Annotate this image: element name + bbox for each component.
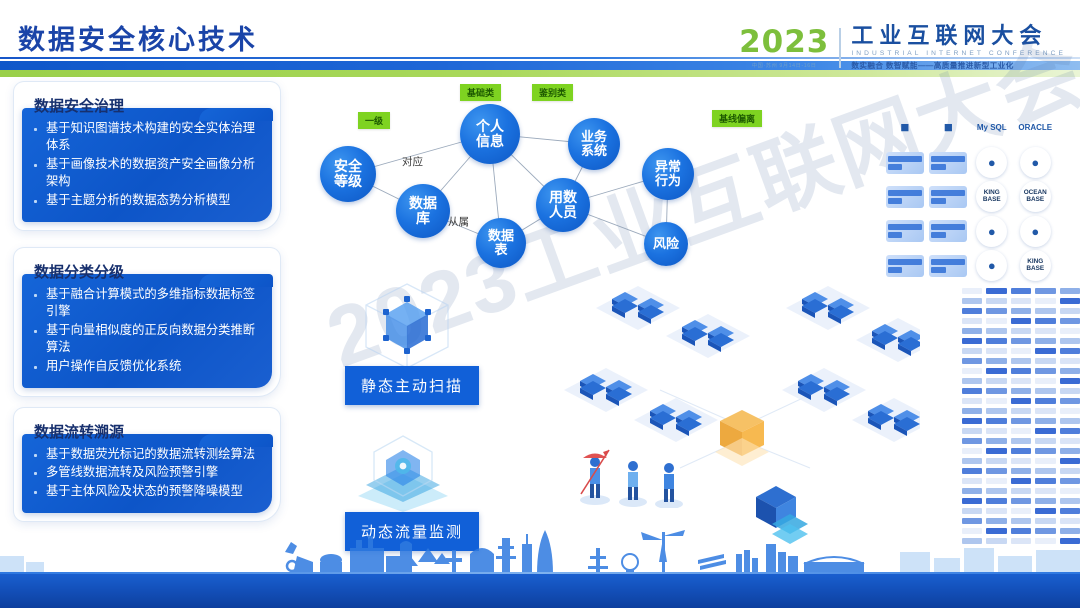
logo-slogan: 数实融合 数智赋能——高质量推进新型工业化 bbox=[851, 60, 1066, 71]
stripe-cell bbox=[1060, 348, 1080, 354]
stripe-cell bbox=[962, 468, 982, 474]
stripe-cell bbox=[1060, 358, 1080, 364]
graph-node-abnormal[interactable]: 异常行为 bbox=[642, 148, 694, 200]
stripe-cell bbox=[962, 358, 982, 364]
stripe-cell bbox=[1035, 468, 1055, 474]
page-title: 数据安全核心技术 bbox=[18, 18, 258, 57]
database-logo-grid: ■■My SQLORACLE●●KINGBASEOCEANBASE●●●KING… bbox=[884, 112, 1056, 282]
db-round-icon: ● bbox=[976, 216, 1007, 247]
stripe-cell bbox=[962, 348, 982, 354]
stripe-cell bbox=[1035, 378, 1055, 384]
db-round-icon: KINGBASE bbox=[976, 181, 1007, 212]
stripe-cell bbox=[1035, 308, 1055, 314]
db-chip-icon bbox=[929, 255, 967, 277]
list-item: 基于向量相似度的正反向数据分类推断算法 bbox=[32, 322, 260, 357]
stripe-cell bbox=[962, 298, 982, 304]
stripe-cell bbox=[1035, 518, 1055, 524]
stripe-cell bbox=[1011, 378, 1031, 384]
stripe-cell bbox=[986, 368, 1006, 374]
graph-edge-correspond: 对应 bbox=[402, 154, 423, 169]
stripe-column bbox=[986, 288, 1006, 550]
graph-node-personal-info[interactable]: 个人信息 bbox=[460, 104, 520, 164]
card-body: 基于知识图谱技术构建的安全实体治理体系 基于画像技术的数据资产安全画像分析架构 … bbox=[22, 108, 272, 222]
stripe-cell bbox=[1011, 488, 1031, 494]
db-round-icon: ● bbox=[976, 250, 1007, 281]
db-round-icon: OCEANBASE bbox=[1020, 181, 1051, 212]
stripe-cell bbox=[986, 438, 1006, 444]
stripe-cell bbox=[1035, 398, 1055, 404]
stripe-cell bbox=[1011, 438, 1031, 444]
db-chip-icon bbox=[886, 255, 924, 277]
stripe-cell bbox=[986, 398, 1006, 404]
stripe-cell bbox=[986, 508, 1006, 514]
graph-node-label: 风险 bbox=[653, 237, 679, 251]
db-logo-mysql: My SQL bbox=[971, 112, 1013, 144]
server-rack bbox=[564, 368, 648, 412]
card-data-security-governance: 数据安全治理 基于知识图谱技术构建的安全实体治理体系 基于画像技术的数据资产安全… bbox=[22, 92, 272, 222]
db-logo-mariadb: ● bbox=[971, 146, 1013, 178]
stripe-cell bbox=[962, 398, 982, 404]
stripe-cell bbox=[1035, 428, 1055, 434]
stripe-cell bbox=[986, 388, 1006, 394]
db-logo-huawei: ● bbox=[971, 215, 1013, 247]
stripe-cell bbox=[1011, 448, 1031, 454]
card-bullet-list: 基于知识图谱技术构建的安全实体治理体系 基于画像技术的数据资产安全画像分析架构 … bbox=[32, 120, 260, 209]
server-rack bbox=[786, 286, 870, 330]
db-round-icon: ● bbox=[976, 147, 1007, 178]
db-text-logo: My SQL bbox=[977, 124, 1007, 132]
stripe-cell bbox=[986, 418, 1006, 424]
stripe-cell bbox=[1060, 318, 1080, 324]
graph-edge-belong: 从属 bbox=[448, 214, 469, 229]
server-rack bbox=[634, 398, 718, 442]
stripe-cell bbox=[1060, 288, 1080, 294]
stripe-cell bbox=[1011, 428, 1031, 434]
stripe-cell bbox=[986, 498, 1006, 504]
cube-scan-icon bbox=[352, 278, 462, 374]
stripe-cell bbox=[986, 348, 1006, 354]
card-body: 基于数据荧光标记的数据流转测绘算法 多管线数据流转及风险预警引擎 基于主体风险及… bbox=[22, 434, 272, 513]
city-skyline-decoration bbox=[0, 526, 1080, 574]
stripe-cell bbox=[1060, 428, 1080, 434]
db-logo-chip-5 bbox=[884, 215, 926, 247]
stripe-cell bbox=[962, 338, 982, 344]
stripe-cell bbox=[1011, 338, 1031, 344]
db-logo-penguin-db: ■ bbox=[928, 112, 970, 144]
db-logo-chip-4 bbox=[928, 181, 970, 213]
stripe-cell bbox=[986, 428, 1006, 434]
graph-node-data-user[interactable]: 用数人员 bbox=[536, 178, 590, 232]
stripe-cell bbox=[986, 378, 1006, 384]
server-rack bbox=[852, 398, 920, 442]
data-stripes-decoration bbox=[962, 288, 1080, 550]
logo-name-cn: 工业互联网大会 bbox=[851, 24, 1066, 47]
db-mark-icon: ■ bbox=[889, 113, 920, 144]
stripe-cell bbox=[1060, 398, 1080, 404]
stripe-cell bbox=[962, 408, 982, 414]
stripe-cell bbox=[986, 448, 1006, 454]
db-chip-icon bbox=[929, 152, 967, 174]
stripe-cell bbox=[1011, 288, 1031, 294]
graph-tag-baseline[interactable]: 基线偏离 bbox=[712, 110, 762, 127]
stripe-cell bbox=[962, 378, 982, 384]
stripe-cell bbox=[962, 518, 982, 524]
stripe-cell bbox=[986, 408, 1006, 414]
card-title: 数据流转溯源 bbox=[22, 418, 134, 445]
stripe-column bbox=[962, 288, 982, 550]
server-rack bbox=[856, 318, 920, 362]
stripe-cell bbox=[1011, 388, 1031, 394]
graph-tag-basic[interactable]: 基础类 bbox=[460, 84, 501, 101]
graph-node-label: 数据库 bbox=[409, 196, 437, 226]
db-chip-icon bbox=[886, 186, 924, 208]
list-item: 基于主体风险及状态的预警降噪模型 bbox=[32, 483, 260, 500]
stripe-cell bbox=[986, 518, 1006, 524]
card-data-flow-tracing: 数据流转溯源 基于数据荧光标记的数据流转测绘算法 多管线数据流转及风险预警引擎 … bbox=[22, 418, 272, 513]
db-logo-chip-1 bbox=[884, 146, 926, 178]
stripe-cell bbox=[986, 328, 1006, 334]
conference-logo: 2023 中国·苏州 9月14日-16日 工业互联网大会 INDUSTRIAL … bbox=[739, 24, 1066, 71]
stripe-cell bbox=[1011, 498, 1031, 504]
stripe-cell bbox=[1035, 338, 1055, 344]
card-data-classification: 数据分类分级 基于融合计算模式的多维指标数据标签引擎 基于向量相似度的正反向数据… bbox=[22, 258, 272, 388]
stripe-cell bbox=[1011, 458, 1031, 464]
stripe-cell bbox=[1035, 388, 1055, 394]
stripe-cell bbox=[1060, 458, 1080, 464]
stripe-cell bbox=[986, 478, 1006, 484]
stripe-cell bbox=[1060, 508, 1080, 514]
stripe-cell bbox=[1035, 298, 1055, 304]
stripe-cell bbox=[962, 508, 982, 514]
stripe-cell bbox=[1035, 318, 1055, 324]
stripe-cell bbox=[1011, 478, 1031, 484]
db-logo-oceanbase: OCEANBASE bbox=[1015, 181, 1057, 213]
stripe-cell bbox=[1011, 328, 1031, 334]
stripe-cell bbox=[962, 448, 982, 454]
stripe-cell bbox=[1060, 478, 1080, 484]
graph-node-business-sys[interactable]: 业务系统 bbox=[568, 118, 620, 170]
graph-node-database[interactable]: 数据库 bbox=[396, 184, 450, 238]
stripe-cell bbox=[1011, 358, 1031, 364]
db-chip-icon bbox=[886, 220, 924, 242]
db-logo-sqlserver: ● bbox=[1015, 146, 1057, 178]
stripe-cell bbox=[986, 288, 1006, 294]
list-item: 多管线数据流转及风险预警引擎 bbox=[32, 464, 260, 481]
list-item: 用户操作自反馈优化系统 bbox=[32, 358, 260, 375]
knowledge-graph: 安全等级个人信息业务系统数据库数据表用数人员异常行为风险一级基础类鉴别类基线偏离… bbox=[300, 86, 780, 296]
card-bullet-list: 基于融合计算模式的多维指标数据标签引擎 基于向量相似度的正反向数据分类推断算法 … bbox=[32, 286, 260, 375]
stripe-cell bbox=[1035, 358, 1055, 364]
stripe-cell bbox=[1035, 498, 1055, 504]
bottom-bar bbox=[0, 574, 1080, 608]
db-chip-icon bbox=[886, 152, 924, 174]
db-logo-chip-8 bbox=[928, 250, 970, 282]
stripe-cell bbox=[1060, 298, 1080, 304]
stripe-cell bbox=[1035, 508, 1055, 514]
stripe-column bbox=[1011, 288, 1031, 550]
db-logo-chip-3 bbox=[884, 181, 926, 213]
logo-name-block: 工业互联网大会 INDUSTRIAL INTERNET CONFERENCE 数… bbox=[851, 24, 1066, 71]
central-data-cube bbox=[715, 410, 769, 466]
stripe-cell bbox=[1035, 448, 1055, 454]
stripe-cell bbox=[1060, 418, 1080, 424]
stripe-cell bbox=[1060, 328, 1080, 334]
stripe-cell bbox=[986, 298, 1006, 304]
db-logo-kingbase-1: KINGBASE bbox=[971, 181, 1013, 213]
logo-divider bbox=[839, 28, 841, 68]
graph-tag-level-1[interactable]: 一级 bbox=[358, 112, 390, 129]
graph-node-security-level[interactable]: 安全等级 bbox=[320, 146, 376, 202]
logo-name-en: INDUSTRIAL INTERNET CONFERENCE bbox=[851, 50, 1066, 57]
db-logo-oracle: ORACLE bbox=[1015, 112, 1057, 144]
graph-node-label: 用数人员 bbox=[549, 190, 577, 220]
db-logo-postgresql: ■ bbox=[884, 112, 926, 144]
stripe-cell bbox=[962, 388, 982, 394]
db-logo-kingbase-2: KINGBASE bbox=[1015, 250, 1057, 282]
stripe-cell bbox=[1011, 348, 1031, 354]
stripe-cell bbox=[962, 368, 982, 374]
db-text-logo: ORACLE bbox=[1018, 124, 1052, 132]
server-rack bbox=[596, 286, 680, 330]
stripe-cell bbox=[1011, 418, 1031, 424]
graph-node-label: 数据表 bbox=[488, 229, 514, 257]
stripe-cell bbox=[962, 288, 982, 294]
stripe-cell bbox=[962, 478, 982, 484]
stripe-cell bbox=[1060, 338, 1080, 344]
stripe-cell bbox=[1035, 288, 1055, 294]
stripe-cell bbox=[1060, 438, 1080, 444]
card-title: 数据分类分级 bbox=[22, 258, 134, 285]
stripe-cell bbox=[1035, 478, 1055, 484]
people-figures bbox=[575, 438, 685, 508]
slide-root: 数据安全核心技术 2023 中国·苏州 9月14日-16日 工业互联网大会 IN… bbox=[0, 0, 1080, 608]
stripe-cell bbox=[962, 418, 982, 424]
stripe-cell bbox=[1060, 448, 1080, 454]
list-item: 基于画像技术的数据资产安全画像分析架构 bbox=[32, 156, 260, 191]
stripe-cell bbox=[962, 328, 982, 334]
stripe-cell bbox=[1011, 398, 1031, 404]
logo-year-subtitle: 中国·苏州 9月14日-16日 bbox=[752, 62, 817, 69]
cube-monitor-icon bbox=[344, 430, 462, 512]
list-item: 基于融合计算模式的多维指标数据标签引擎 bbox=[32, 286, 260, 321]
stripe-cell bbox=[1011, 298, 1031, 304]
stripe-cell bbox=[1011, 508, 1031, 514]
db-chip-icon bbox=[929, 220, 967, 242]
stripe-cell bbox=[1060, 388, 1080, 394]
chip-static-scan[interactable]: 静态主动扫描 bbox=[345, 366, 479, 405]
stripe-cell bbox=[1035, 348, 1055, 354]
stripe-cell bbox=[1060, 308, 1080, 314]
db-logo-chip-6 bbox=[928, 215, 970, 247]
stripe-cell bbox=[1035, 488, 1055, 494]
list-item: 基于知识图谱技术构建的安全实体治理体系 bbox=[32, 120, 260, 155]
logo-year-block: 2023 中国·苏州 9月14日-16日 bbox=[739, 27, 829, 69]
db-chip-icon bbox=[929, 186, 967, 208]
db-logo-chip-7 bbox=[884, 250, 926, 282]
stripe-cell bbox=[962, 308, 982, 314]
stripe-cell bbox=[1035, 438, 1055, 444]
graph-node-label: 安全等级 bbox=[334, 159, 362, 189]
stripe-cell bbox=[986, 308, 1006, 314]
stripe-cell bbox=[986, 338, 1006, 344]
stripe-cell bbox=[1011, 468, 1031, 474]
graph-node-label: 异常行为 bbox=[655, 160, 681, 188]
stripe-cell bbox=[1011, 518, 1031, 524]
db-round-icon: KINGBASE bbox=[1020, 250, 1051, 281]
stripe-cell bbox=[962, 438, 982, 444]
card-body: 基于融合计算模式的多维指标数据标签引擎 基于向量相似度的正反向数据分类推断算法 … bbox=[22, 274, 272, 388]
list-item: 基于主题分析的数据态势分析模型 bbox=[32, 192, 260, 209]
stripe-cell bbox=[986, 488, 1006, 494]
db-logo-chip-2 bbox=[928, 146, 970, 178]
graph-tag-identify[interactable]: 鉴别类 bbox=[532, 84, 573, 101]
stripe-cell bbox=[1035, 418, 1055, 424]
stripe-cell bbox=[962, 498, 982, 504]
server-rack bbox=[782, 368, 866, 412]
stripe-cell bbox=[1011, 308, 1031, 314]
stripe-cell bbox=[986, 458, 1006, 464]
stripe-cell bbox=[1035, 328, 1055, 334]
stripe-cell bbox=[986, 358, 1006, 364]
server-rack bbox=[666, 314, 750, 358]
logo-year: 2023 bbox=[739, 27, 829, 58]
stripe-cell bbox=[986, 468, 1006, 474]
stripe-cell bbox=[1011, 318, 1031, 324]
stripe-cell bbox=[1060, 378, 1080, 384]
graph-node-label: 个人信息 bbox=[476, 119, 504, 149]
db-round-icon: ● bbox=[1020, 147, 1051, 178]
stripe-cell bbox=[962, 318, 982, 324]
graph-node-risk[interactable]: 风险 bbox=[644, 222, 688, 266]
stripe-cell bbox=[1060, 408, 1080, 414]
stripe-cell bbox=[1035, 408, 1055, 414]
stripe-cell bbox=[1060, 368, 1080, 374]
stripe-cell bbox=[1035, 368, 1055, 374]
stripe-cell bbox=[1011, 408, 1031, 414]
stripe-cell bbox=[962, 458, 982, 464]
graph-node-label: 业务系统 bbox=[581, 130, 607, 158]
list-item: 基于数据荧光标记的数据流转测绘算法 bbox=[32, 446, 260, 463]
stripe-cell bbox=[986, 318, 1006, 324]
db-round-icon: ● bbox=[1020, 216, 1051, 247]
stripe-cell bbox=[1060, 518, 1080, 524]
db-mark-icon: ■ bbox=[933, 113, 964, 144]
card-bullet-list: 基于数据荧光标记的数据流转测绘算法 多管线数据流转及风险预警引擎 基于主体风险及… bbox=[32, 446, 260, 500]
stripe-cell bbox=[962, 488, 982, 494]
stripe-cell bbox=[1060, 468, 1080, 474]
stripe-cell bbox=[1011, 368, 1031, 374]
stripe-cell bbox=[1060, 498, 1080, 504]
stripe-cell bbox=[1035, 458, 1055, 464]
stripe-column bbox=[1035, 288, 1055, 550]
stripe-cell bbox=[962, 428, 982, 434]
db-logo-apache-db: ● bbox=[971, 250, 1013, 282]
db-logo-bars-db: ● bbox=[1015, 215, 1057, 247]
stripe-cell bbox=[1060, 488, 1080, 494]
graph-node-datatable[interactable]: 数据表 bbox=[476, 218, 526, 268]
stripe-column bbox=[1060, 288, 1080, 550]
card-title: 数据安全治理 bbox=[22, 92, 134, 119]
